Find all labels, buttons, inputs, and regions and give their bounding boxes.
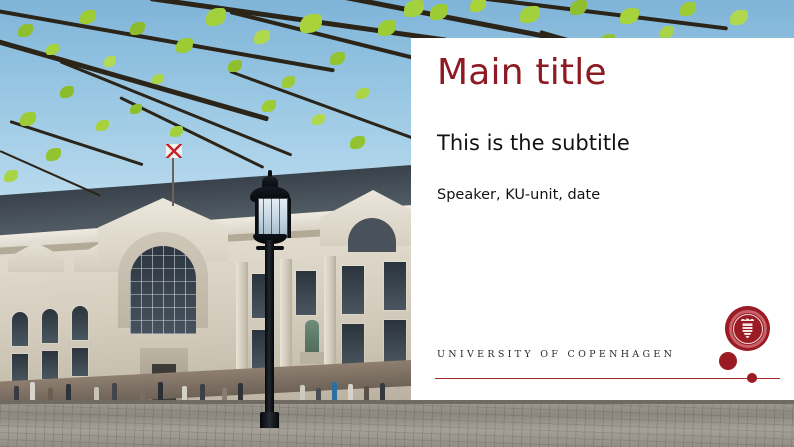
window [384,262,406,310]
leaf [730,10,748,25]
leaf [130,22,145,35]
leaf [330,52,345,65]
leaf [520,6,540,23]
leaf [254,30,270,44]
cobblestone-texture [0,404,794,447]
leaf [356,88,369,99]
branch [229,70,427,145]
decorative-dot-small [747,373,757,383]
leaf [206,8,226,26]
leaf [282,76,295,88]
window [72,306,88,340]
window [12,312,28,346]
window [342,266,364,314]
branch [59,60,292,156]
leaf [176,38,193,53]
statue-plinth [300,352,324,364]
leaf [262,100,276,112]
leaf [300,14,322,33]
leaf [152,74,164,84]
presentation-slide: Main title This is the subtitle Speaker,… [0,0,794,447]
leaf [130,104,142,114]
leaf [18,24,33,37]
leaf [170,126,183,137]
leaf [46,148,61,161]
leaf [350,136,365,149]
window [42,309,58,343]
slide-title: Main title [437,55,607,91]
leaf [20,112,36,126]
leaf [60,86,74,98]
window [384,320,406,364]
ku-seal-icon [725,306,770,351]
lamp-base [260,412,279,428]
institution-name: UNIVERSITY OF COPENHAGEN [437,349,675,360]
leaf [620,8,639,24]
leaf [46,44,59,55]
leaf [228,60,242,72]
leaf [104,56,116,67]
bronze-statue [305,320,319,354]
branch [10,120,144,166]
slide-subtitle: This is the subtitle [437,133,630,154]
decorative-dot-large [719,352,737,370]
title-panel: Main title This is the subtitle Speaker,… [411,38,794,400]
seal-crest-bars [741,325,754,339]
leaf [80,10,96,24]
footer-rule [435,378,780,380]
leaf [680,2,696,16]
leaf [96,120,109,131]
seal-figures [740,314,755,321]
leaf [660,26,674,38]
leaf [4,170,18,182]
window [342,324,364,368]
lamp-pole [265,240,274,428]
slide-speaker: Speaker, KU-unit, date [437,188,600,203]
leaf [312,114,325,125]
window [296,271,316,315]
leaf [470,0,486,12]
